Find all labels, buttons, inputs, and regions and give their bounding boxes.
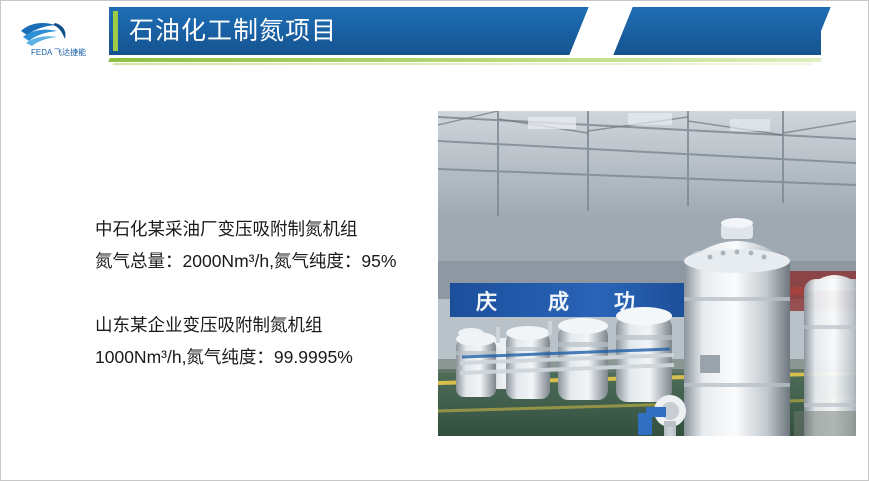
svg-text:成: 成 — [548, 290, 569, 314]
header-green-accent-bar — [113, 11, 118, 51]
footer-divider — [1, 479, 869, 480]
body-text-block: 中石化某采油厂变压吸附制氮机组 氮气总量：2000Nm³/h,氮气纯度：95% … — [95, 213, 435, 373]
header-band-right-segment — [613, 7, 830, 55]
page-title: 石油化工制氮项目 — [129, 13, 337, 49]
paragraph-spacer — [95, 277, 435, 309]
project-photo: 庆 成 功 — [438, 111, 856, 436]
paragraph-line-3: 山东某企业变压吸附制氮机组 — [95, 309, 435, 341]
header-green-underline-light — [113, 63, 814, 65]
slide: 石油化工制氮项目 FEDA 飞达捷能 中石化某采油厂变压吸附制氮机组 氮气总量：… — [0, 0, 869, 481]
svg-text:庆: 庆 — [476, 290, 497, 314]
company-logo: FEDA 飞达捷能 — [15, 13, 101, 57]
slide-header: 石油化工制氮项目 — [1, 1, 869, 73]
paragraph-line-4: 1000Nm³/h,氮气纯度：99.9995% — [95, 341, 435, 373]
eagle-icon — [21, 23, 66, 46]
paragraph-line-1: 中石化某采油厂变压吸附制氮机组 — [95, 213, 435, 245]
paragraph-line-2: 氮气总量：2000Nm³/h,氮气纯度：95% — [95, 245, 435, 277]
header-green-underline — [108, 58, 822, 62]
logo-wordmark: FEDA 飞达捷能 — [31, 47, 86, 58]
